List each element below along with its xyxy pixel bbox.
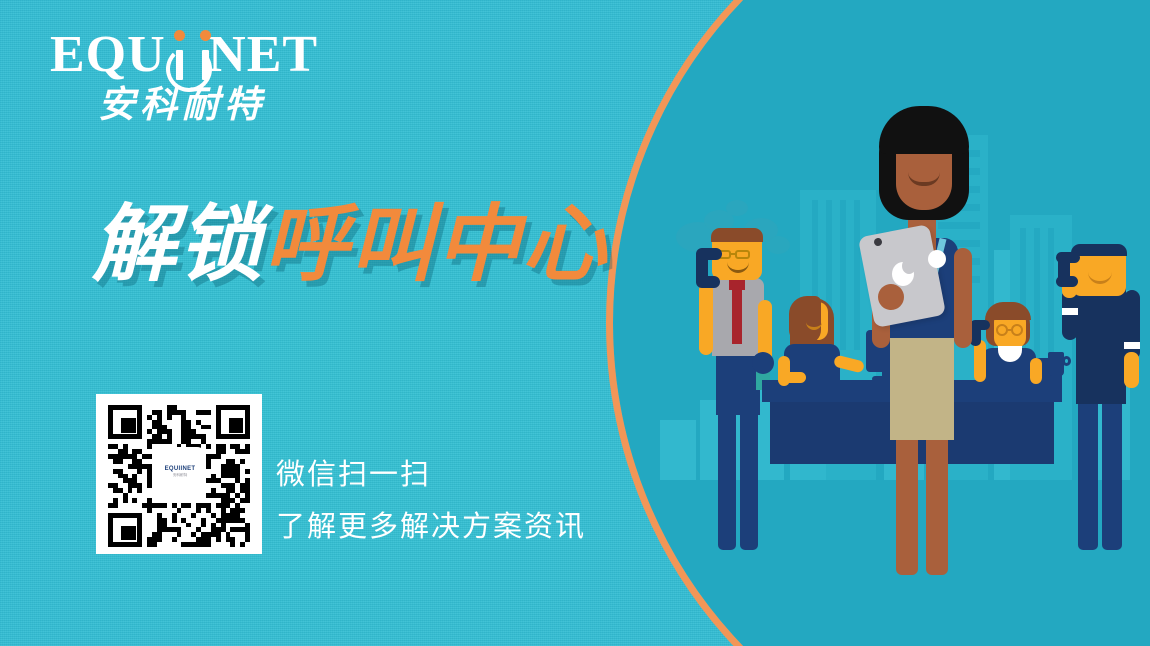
qr-caption: 微信扫一扫 了解更多解决方案资讯 (276, 448, 586, 552)
logo-chinese-name: 安科耐特 (98, 84, 318, 126)
orange-arc-ring (606, 0, 1150, 646)
wechat-qr-code[interactable]: EQUIINET 安科耐特 (96, 394, 262, 554)
qr-caption-line2: 了解更多解决方案资讯 (276, 500, 586, 552)
logo-dot-left-icon (174, 30, 185, 41)
headline-part-orange: 呼叫中心 (264, 195, 608, 293)
poster-canvas: EQUIINET 安科耐特 解锁呼叫中心 EQUIINET 安科耐特 微信扫一扫… (0, 0, 1150, 646)
equiinet-logo: EQUIINET 安科耐特 (50, 28, 318, 126)
qr-caption-line1: 微信扫一扫 (276, 448, 586, 500)
headline-part-white: 解锁 (92, 195, 264, 293)
logo-i-stem-right (202, 50, 209, 80)
qr-logo-sub: 安科耐特 (173, 473, 187, 478)
qr-center-logo: EQUIINET 安科耐特 (154, 447, 206, 497)
logo-dot-right-icon (200, 30, 211, 41)
logo-wordmark-left: EQU (50, 26, 166, 83)
qr-logo-main: EQUIINET (165, 466, 196, 473)
page-title: 解锁呼叫中心 (92, 196, 608, 292)
logo-wordmark-right: NET (208, 26, 318, 83)
logo-i-stem-left (176, 50, 183, 80)
